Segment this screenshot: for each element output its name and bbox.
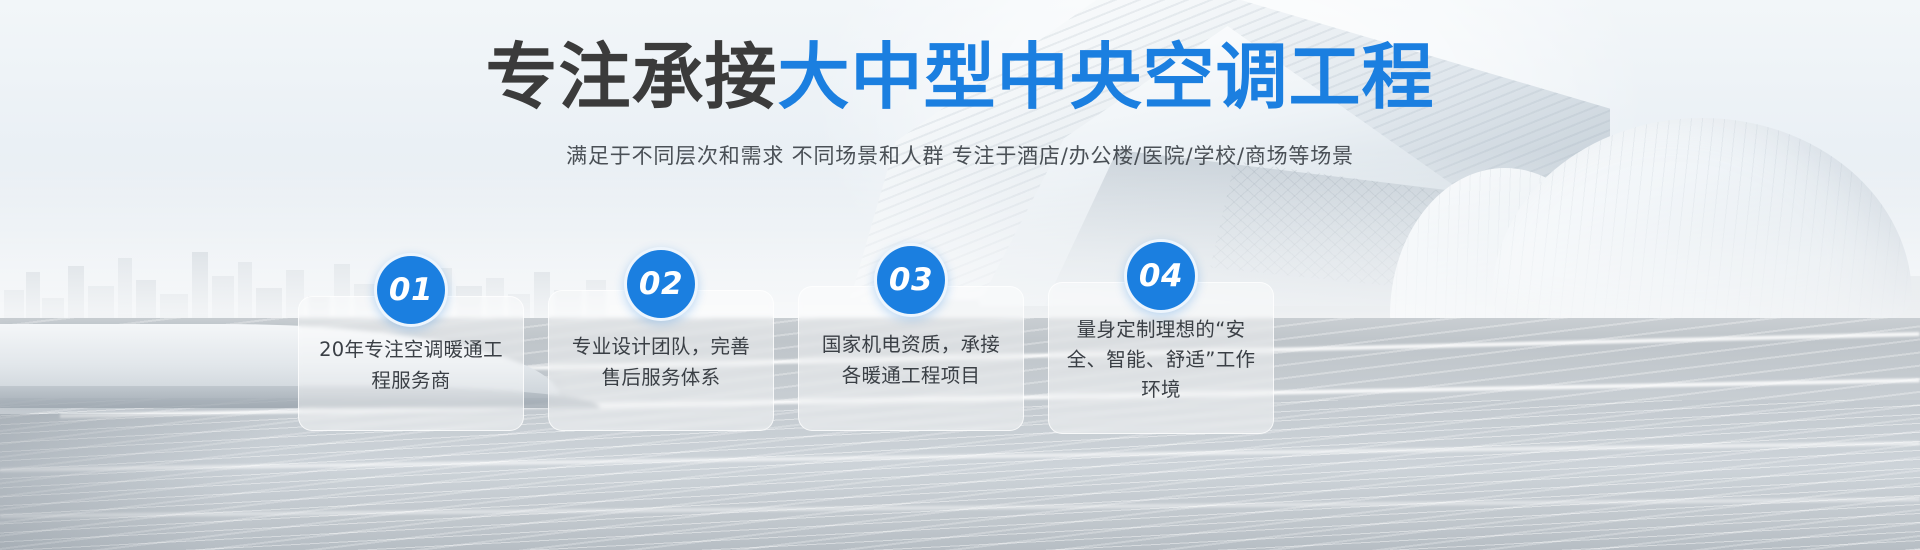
feature-number: 02 (639, 266, 683, 302)
feature-card-text: 量身定制理想的“安全、智能、舒适”工作环境 (1065, 315, 1257, 406)
feature-number-badge: 01 (374, 253, 448, 327)
feature-number-badge: 02 (624, 247, 698, 321)
feature-number-badge: 03 (874, 243, 948, 317)
feature-card-text: 20年专注空调暖通工程服务商 (315, 335, 507, 395)
feature-number: 04 (1139, 258, 1183, 294)
feature-card[interactable]: 02 专业设计团队，完善售后服务体系 (548, 290, 774, 431)
feature-card-text: 国家机电资质，承接各暖通工程项目 (815, 330, 1007, 390)
feature-number-badge: 04 (1124, 239, 1198, 313)
hero-banner: 专注承接大中型中央空调工程 满足于不同层次和需求 不同场景和人群 专注于酒店/办… (0, 0, 1920, 550)
road-curb-shadow-icon (0, 414, 330, 550)
feature-card[interactable]: 01 20年专注空调暖通工程服务商 (298, 296, 524, 431)
feature-card[interactable]: 04 量身定制理想的“安全、智能、舒适”工作环境 (1048, 282, 1274, 434)
feature-number: 01 (389, 272, 433, 308)
subtitle: 满足于不同层次和需求 不同场景和人群 专注于酒店/办公楼/医院/学校/商场等场景 (0, 140, 1920, 170)
feature-number: 03 (889, 262, 933, 298)
feature-card[interactable]: 03 国家机电资质，承接各暖通工程项目 (798, 286, 1024, 431)
feature-card-list: 01 20年专注空调暖通工程服务商 02 专业设计团队，完善售后服务体系 03 … (298, 282, 1588, 462)
feature-card-text: 专业设计团队，完善售后服务体系 (565, 332, 757, 392)
